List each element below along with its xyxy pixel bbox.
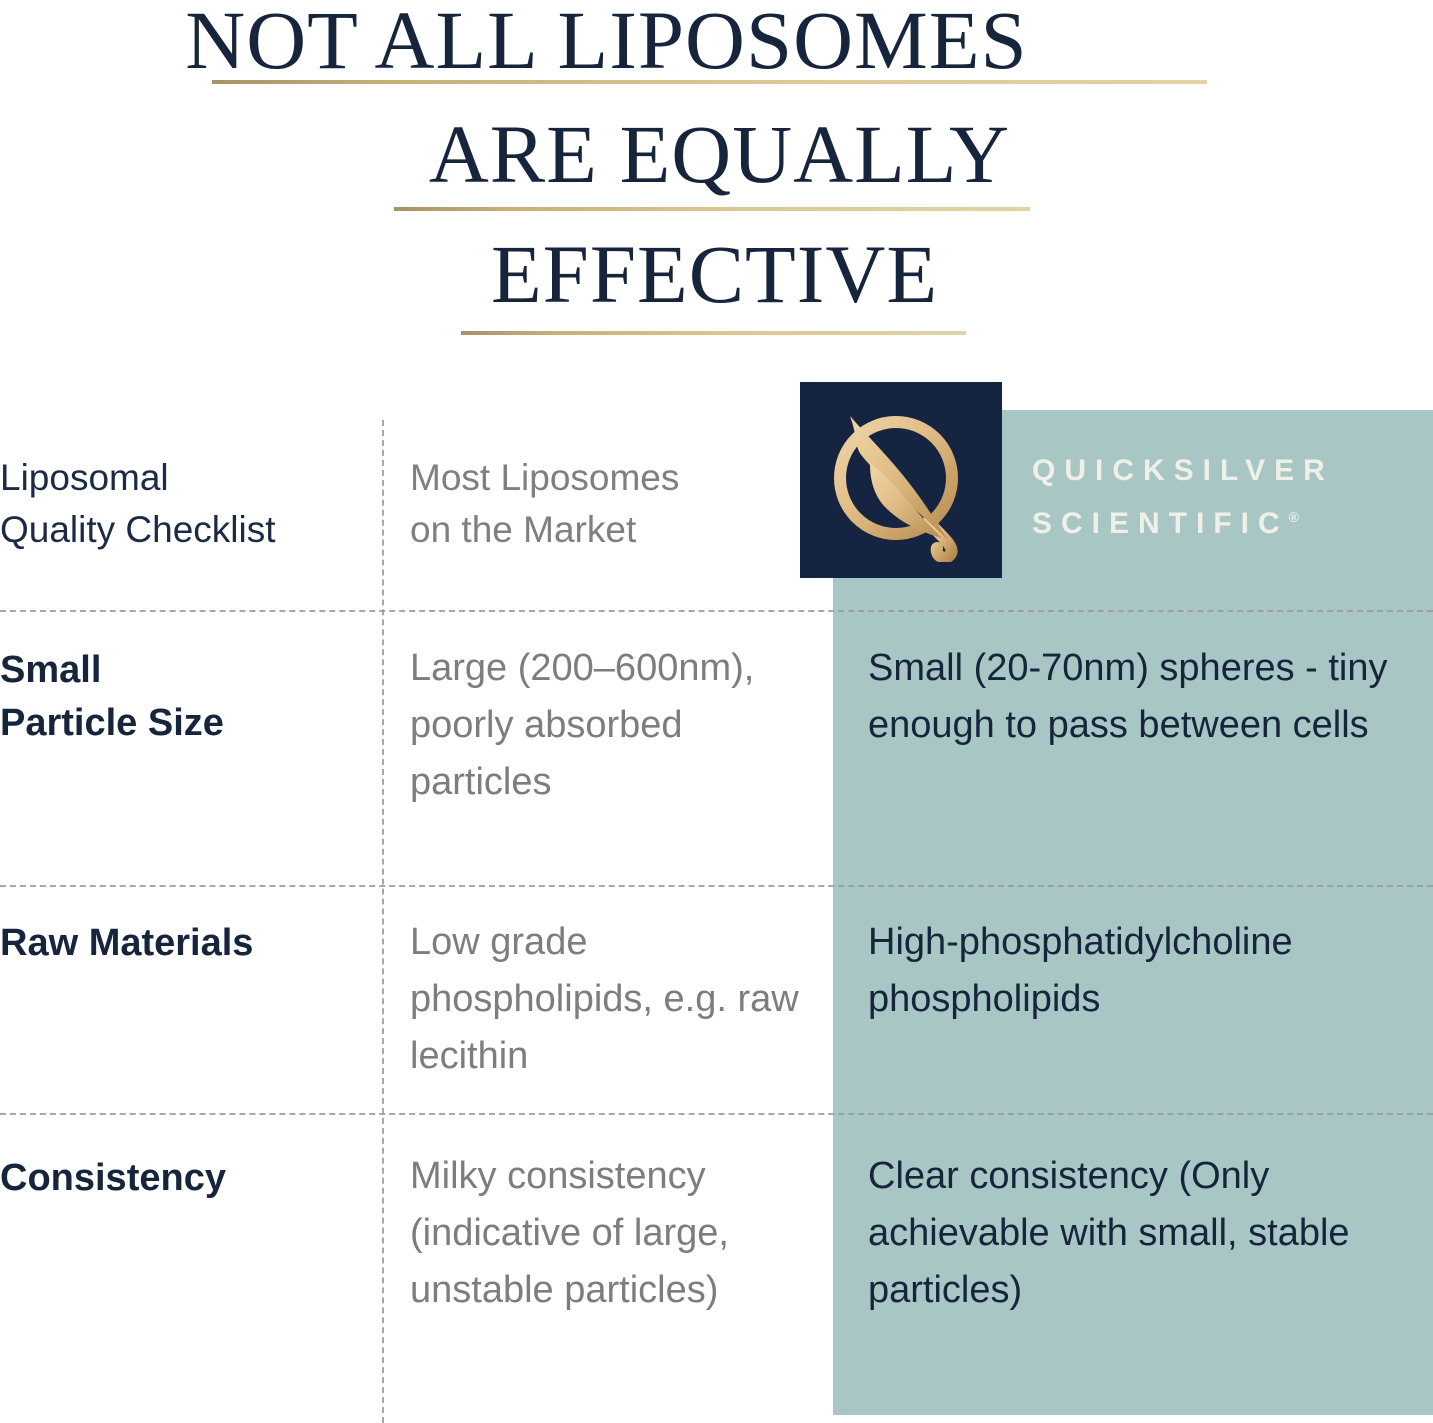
title-line-1: NOT ALL LIPOSOMES bbox=[0, 0, 1433, 86]
row-2-market-cell: Low grade phospholipids, e.g. raw lecith… bbox=[410, 914, 815, 1085]
title-underline-2 bbox=[394, 207, 1030, 211]
header-checklist-line-2: Quality Checklist bbox=[0, 504, 372, 556]
brand-name-line-1: QUICKSILVER bbox=[1032, 448, 1412, 494]
row-1-label-line-1: Small bbox=[0, 644, 372, 697]
row-1-market-cell: Large (200–600nm), poorly absorbed parti… bbox=[410, 640, 815, 811]
header-checklist-line-1: Liposomal bbox=[0, 452, 372, 504]
row-3-market-text: Milky consistency (indicative of large, … bbox=[410, 1148, 830, 1319]
header-cell-checklist: Liposomal Quality Checklist bbox=[0, 452, 372, 556]
row-2-label-line-1: Raw Materials bbox=[0, 917, 372, 970]
title-line-3: EFFECTIVE bbox=[0, 228, 1433, 320]
row-1-market-text: Large (200–600nm), poorly absorbed parti… bbox=[410, 640, 815, 811]
row-2-quicksilver-cell: High-phosphatidylcholine phospholipids bbox=[868, 914, 1398, 1028]
title-block: NOT ALL LIPOSOMES ARE EQUALLY EFFECTIVE bbox=[0, 0, 1433, 360]
title-underline-3 bbox=[461, 331, 966, 335]
header-market-line-1: Most Liposomes bbox=[410, 452, 815, 504]
quicksilver-q-leaf-icon bbox=[824, 398, 980, 562]
brand-name-line-2-text: SCIENTIFIC bbox=[1032, 507, 1289, 540]
infographic-root: NOT ALL LIPOSOMES ARE EQUALLY EFFECTIVE bbox=[0, 0, 1433, 1423]
row-2-quicksilver-text: High-phosphatidylcholine phospholipids bbox=[868, 914, 1398, 1028]
row-1-quicksilver-text: Small (20-70nm) spheres - tiny enough to… bbox=[868, 640, 1398, 754]
column-divider-1 bbox=[382, 420, 384, 1423]
row-label-small-particle-size: Small Particle Size bbox=[0, 644, 372, 750]
row-3-quicksilver-text: Clear consistency (Only achievable with … bbox=[868, 1148, 1398, 1319]
row-divider-2 bbox=[0, 1113, 1433, 1115]
header-market-line-2: on the Market bbox=[410, 504, 815, 556]
registered-mark: ® bbox=[1289, 509, 1299, 525]
row-2-market-text: Low grade phospholipids, e.g. raw lecith… bbox=[410, 914, 815, 1085]
comparison-table: QUICKSILVER SCIENTIFIC® Liposomal Qualit… bbox=[0, 382, 1433, 1423]
brand-name-block: QUICKSILVER SCIENTIFIC® bbox=[1032, 448, 1412, 547]
row-divider-1 bbox=[0, 885, 1433, 887]
row-label-consistency: Consistency bbox=[0, 1152, 372, 1205]
row-1-label-line-2: Particle Size bbox=[0, 697, 372, 750]
title-line-2: ARE EQUALLY bbox=[0, 108, 1433, 200]
brand-logo-tile bbox=[800, 382, 1002, 578]
header-cell-market: Most Liposomes on the Market bbox=[410, 452, 815, 556]
title-underline-1 bbox=[212, 80, 1207, 84]
row-3-market-cell: Milky consistency (indicative of large, … bbox=[410, 1148, 830, 1319]
row-label-raw-materials: Raw Materials bbox=[0, 917, 372, 970]
brand-name-line-2: SCIENTIFIC® bbox=[1032, 494, 1412, 547]
row-divider-header bbox=[0, 610, 1433, 612]
row-3-label-line-1: Consistency bbox=[0, 1152, 372, 1205]
row-1-quicksilver-cell: Small (20-70nm) spheres - tiny enough to… bbox=[868, 640, 1398, 754]
row-3-quicksilver-cell: Clear consistency (Only achievable with … bbox=[868, 1148, 1398, 1319]
